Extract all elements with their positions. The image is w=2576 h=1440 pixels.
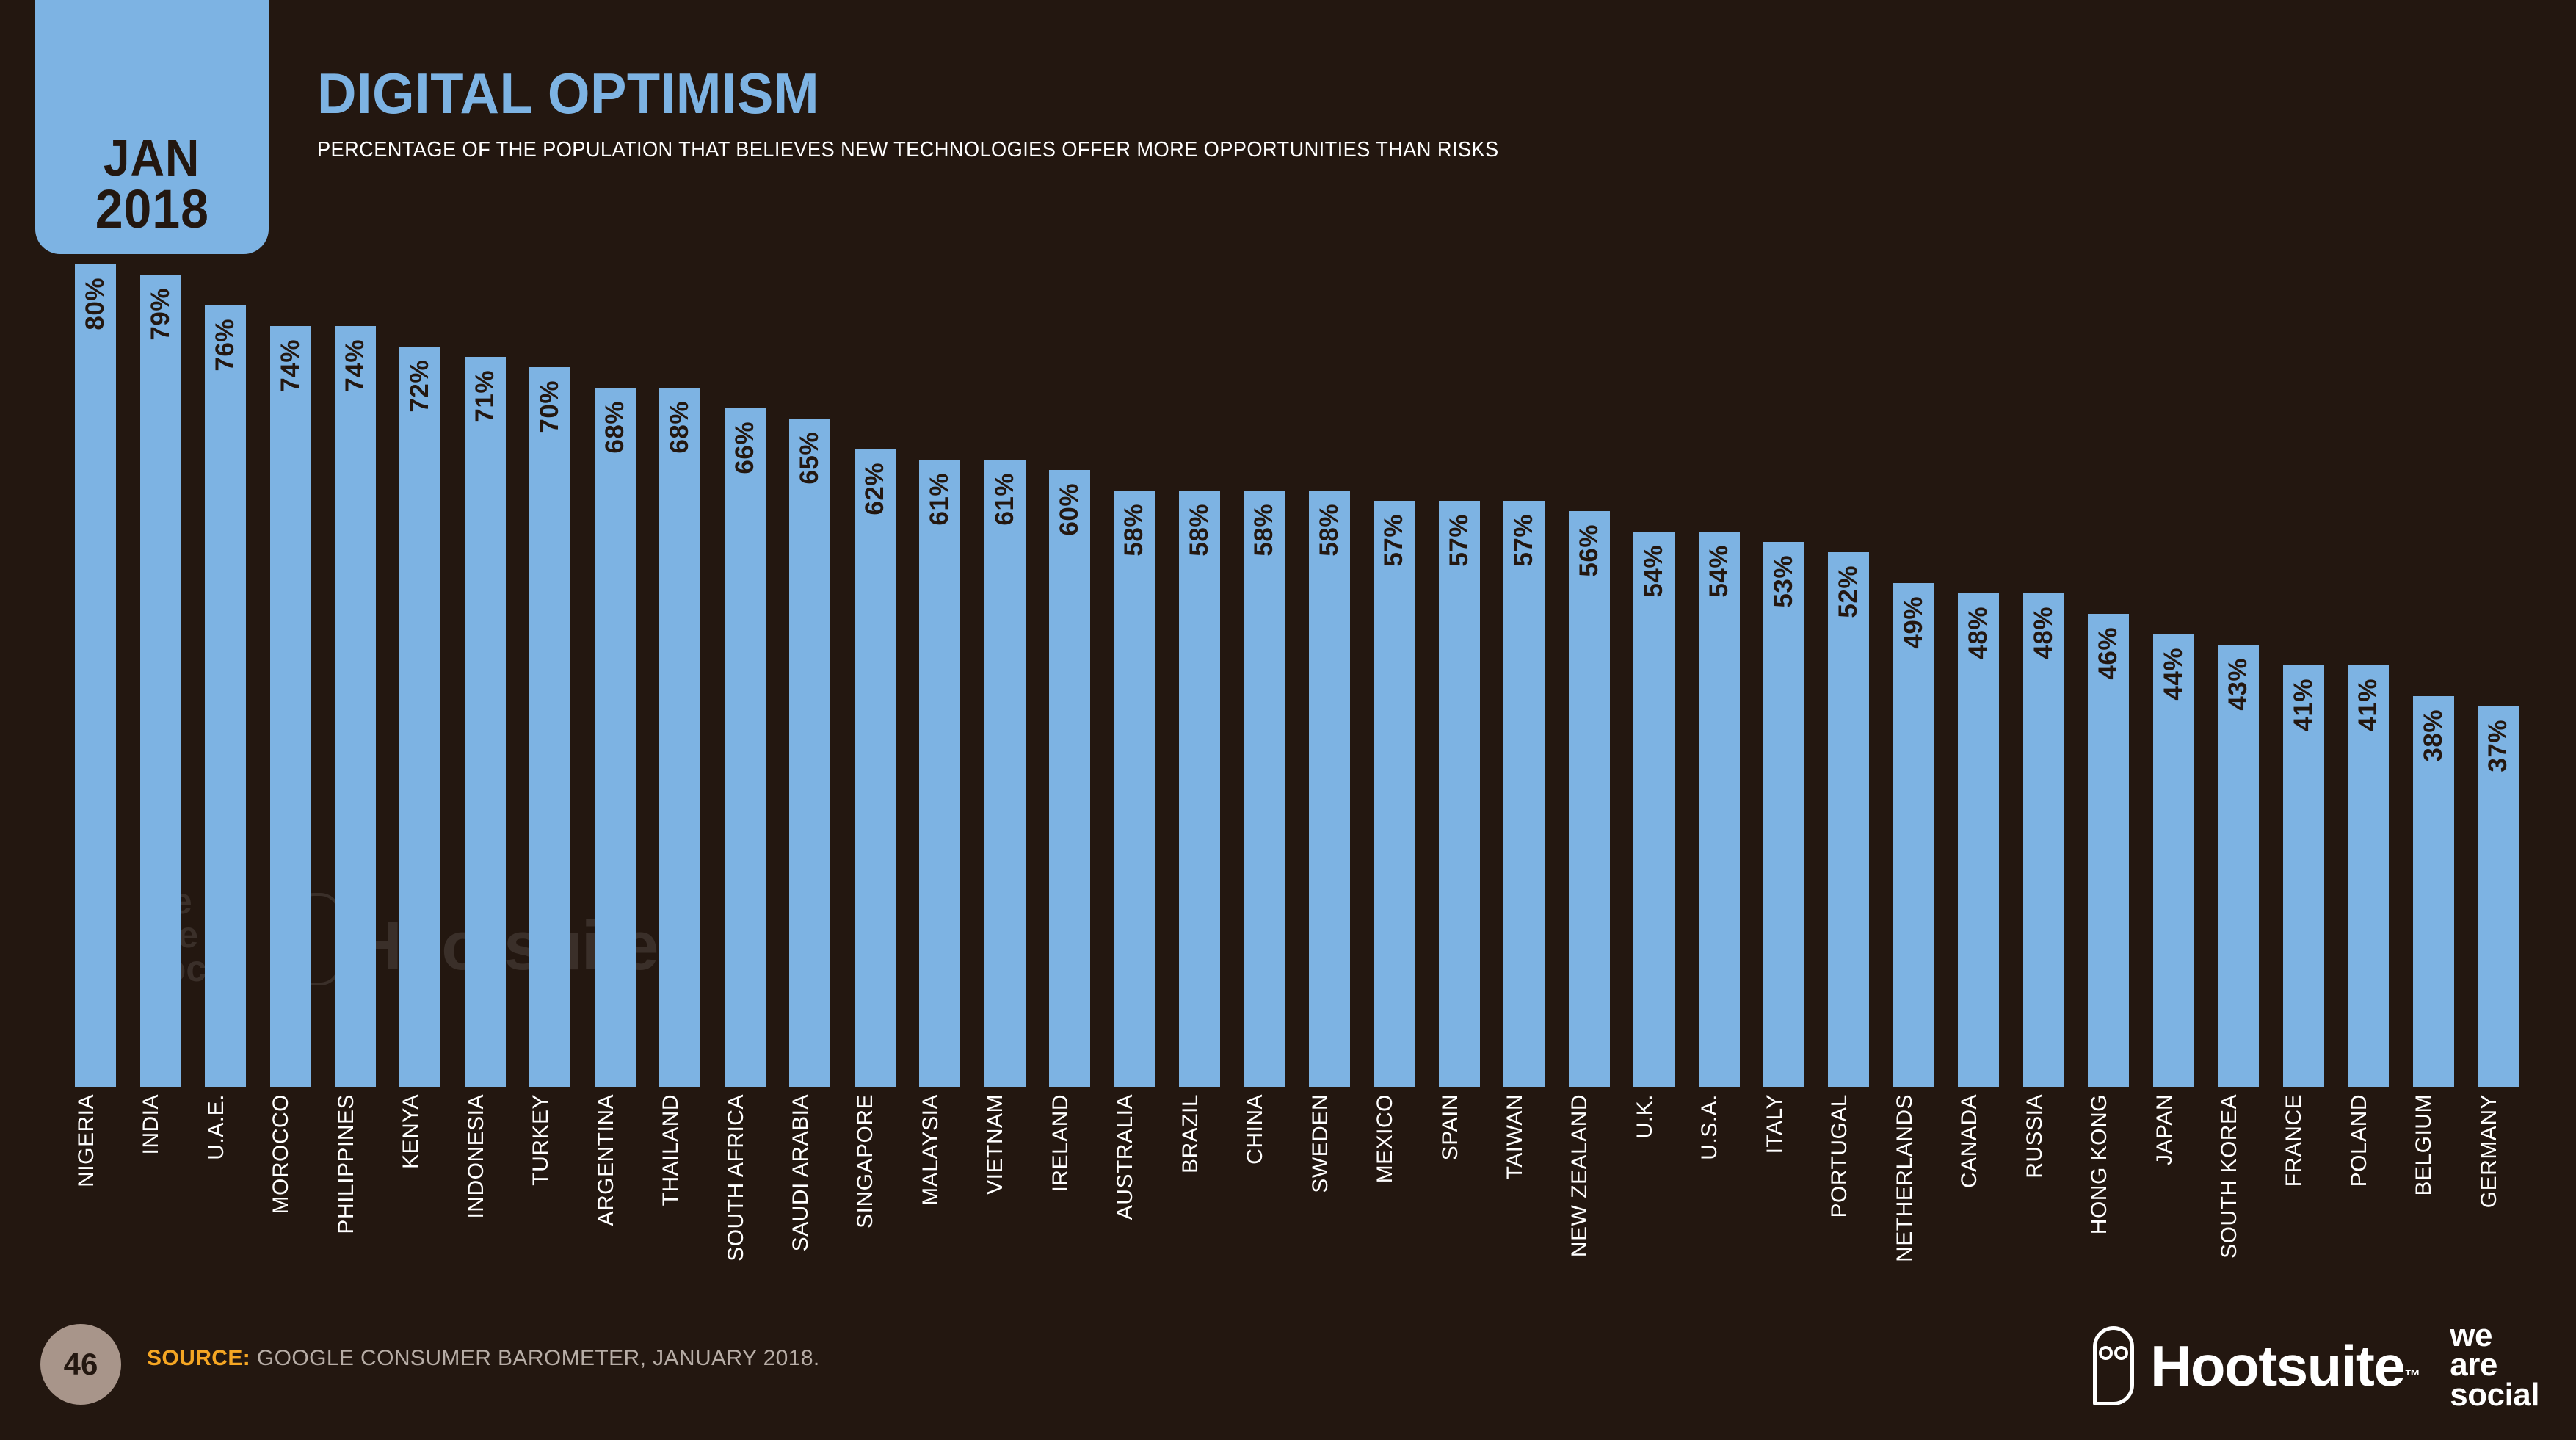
bars-container: 80%79%76%74%74%72%71%70%68%68%66%65%62%6… [66, 264, 2528, 1087]
bar-column[interactable]: 58% [1170, 264, 1229, 1087]
bar-value-label: 38% [2413, 709, 2454, 797]
bar[interactable]: 79% [140, 275, 181, 1087]
badge-year: 2018 [95, 183, 208, 236]
bar[interactable]: 68% [595, 388, 636, 1087]
footer: 46 SOURCE: GOOGLE CONSUMER BAROMETER, JA… [0, 1293, 2576, 1440]
category-label: NETHERLANDS [1884, 1094, 1926, 1262]
bar-column[interactable]: 57% [1430, 264, 1489, 1087]
trademark-symbol: ™ [2404, 1366, 2420, 1384]
bar-value-label: 68% [595, 401, 636, 489]
hootsuite-word: Hootsuite [2150, 1334, 2404, 1398]
bar-column[interactable]: 74% [326, 264, 385, 1087]
bar-value-text: 52% [1828, 565, 1869, 618]
bar-value-label: 48% [2023, 607, 2064, 695]
category-label: RUSSIA [2014, 1094, 2056, 1179]
bar[interactable]: 41% [2348, 665, 2389, 1087]
badge-month: JAN [104, 133, 200, 184]
bar[interactable]: 48% [2023, 593, 2064, 1087]
we-are-social-logo: we are social [2450, 1321, 2539, 1410]
bar-column[interactable]: 44% [2144, 264, 2203, 1087]
bar-column[interactable]: 57% [1495, 264, 1553, 1087]
bar-value-text: 58% [1309, 504, 1350, 557]
bar-value-text: 46% [2088, 627, 2129, 680]
owl-eye-left-icon [2099, 1346, 2113, 1360]
bar-column[interactable]: 48% [1949, 264, 2008, 1087]
bar-value-text: 61% [919, 473, 960, 526]
category-label: PORTUGAL [1819, 1094, 1860, 1218]
bar-value-label: 74% [270, 339, 311, 427]
bar[interactable]: 61% [984, 460, 1026, 1087]
bar-value-text: 41% [2283, 679, 2324, 731]
category-label: U.S.A. [1689, 1094, 1730, 1160]
bar-value-label: 57% [1374, 514, 1415, 602]
category-label: TAIWAN [1495, 1094, 1536, 1179]
category-label: ITALY [1755, 1094, 1796, 1154]
bar-column[interactable]: 70% [520, 264, 579, 1087]
category-label: JAPAN [2144, 1094, 2185, 1165]
bar-value-text: 58% [1244, 504, 1285, 557]
bar-value-label: 58% [1244, 504, 1285, 592]
bar-value-label: 48% [1958, 607, 1999, 695]
bar[interactable]: 61% [919, 460, 960, 1087]
bar-column[interactable]: 62% [845, 264, 904, 1087]
bar-value-text: 70% [529, 380, 570, 433]
bar[interactable]: 76% [205, 305, 246, 1087]
bar[interactable]: 57% [1374, 501, 1415, 1087]
bar-value-text: 79% [140, 288, 181, 341]
bar[interactable]: 52% [1828, 552, 1869, 1087]
bar-value-label: 56% [1569, 524, 1610, 612]
category-label: SAUDI ARABIA [780, 1094, 821, 1251]
bar-value-text: 53% [1763, 555, 1804, 608]
bar-column[interactable]: 43% [2209, 264, 2268, 1087]
bar-value-label: 41% [2348, 679, 2389, 767]
bar-value-text: 61% [984, 473, 1026, 526]
bar-value-label: 68% [659, 401, 700, 489]
bar[interactable]: 66% [725, 408, 766, 1087]
bar-column[interactable]: 48% [2014, 264, 2073, 1087]
source-text: GOOGLE CONSUMER BAROMETER, JANUARY 2018. [257, 1346, 820, 1370]
bar-column[interactable]: 68% [650, 264, 709, 1087]
bar[interactable]: 60% [1049, 470, 1090, 1087]
bar[interactable]: 38% [2413, 696, 2454, 1087]
page-subtitle: PERCENTAGE OF THE POPULATION THAT BELIEV… [317, 138, 1499, 162]
bar-value-text: 54% [1633, 545, 1675, 598]
bar[interactable]: 57% [1503, 501, 1545, 1087]
bar-column[interactable]: 54% [1689, 264, 1748, 1087]
bar[interactable]: 53% [1763, 542, 1804, 1087]
owl-icon [2093, 1326, 2134, 1405]
bar-value-label: 46% [2088, 627, 2129, 715]
bar-value-label: 71% [465, 370, 506, 458]
bar[interactable]: 37% [2478, 706, 2519, 1087]
bar-column[interactable]: 65% [780, 264, 839, 1087]
page-title: DIGITAL OPTIMISM [317, 65, 1512, 122]
bar[interactable]: 41% [2283, 665, 2324, 1087]
bar-value-label: 41% [2283, 679, 2324, 767]
category-label: GERMANY [2469, 1094, 2510, 1208]
bar-column[interactable]: 61% [975, 264, 1034, 1087]
bar-column[interactable]: 52% [1819, 264, 1878, 1087]
bar-value-label: 76% [205, 319, 246, 407]
category-label: VIETNAM [975, 1094, 1016, 1195]
bar-value-label: 80% [75, 278, 116, 366]
category-label: HONG KONG [2079, 1094, 2120, 1234]
category-label: CHINA [1235, 1094, 1276, 1165]
category-label: FRANCE [2274, 1094, 2315, 1187]
bar-value-label: 58% [1179, 504, 1220, 592]
bar-value-label: 60% [1049, 483, 1090, 571]
bar-value-label: 79% [140, 288, 181, 376]
bar-value-label: 43% [2218, 658, 2259, 746]
category-label: INDIA [131, 1094, 172, 1155]
brand-block: Hootsuite™ we are social [2093, 1321, 2539, 1410]
category-label: POLAND [2339, 1094, 2380, 1187]
bar-value-label: 57% [1503, 514, 1545, 602]
bar[interactable]: 72% [399, 347, 440, 1087]
bar-value-text: 56% [1569, 524, 1610, 577]
bar-value-label: 72% [399, 360, 440, 448]
bar-value-text: 58% [1114, 504, 1155, 557]
bar-column[interactable]: 54% [1625, 264, 1683, 1087]
bar-value-label: 52% [1828, 565, 1869, 654]
category-label: IRELAND [1040, 1094, 1081, 1193]
category-label: SOUTH AFRICA [716, 1094, 757, 1262]
date-badge: JAN 2018 [35, 0, 269, 254]
bar[interactable]: 57% [1439, 501, 1480, 1087]
bar-value-label: 49% [1893, 596, 1934, 684]
bar-column[interactable]: 49% [1884, 264, 1943, 1087]
bar[interactable]: 70% [529, 367, 570, 1087]
category-label: U.A.E. [196, 1094, 237, 1160]
bar-column[interactable]: 80% [66, 264, 125, 1087]
bar-value-text: 68% [659, 401, 700, 454]
bar[interactable]: 65% [789, 419, 830, 1087]
bar-value-text: 72% [399, 360, 440, 413]
hootsuite-logo: Hootsuite™ [2093, 1326, 2420, 1405]
bar-value-label: 74% [335, 339, 376, 427]
bar-column[interactable]: 38% [2403, 264, 2462, 1087]
bar-column[interactable]: 37% [2469, 264, 2528, 1087]
bar-column[interactable]: 41% [2339, 264, 2398, 1087]
bar[interactable]: 49% [1893, 583, 1934, 1087]
bar[interactable]: 80% [75, 264, 116, 1087]
page-number-badge: 46 [40, 1324, 121, 1405]
bar[interactable]: 71% [465, 357, 506, 1087]
bar-column[interactable]: 56% [1559, 264, 1618, 1087]
category-label: NEW ZEALAND [1559, 1094, 1600, 1257]
category-label: INDONESIA [456, 1094, 497, 1219]
bar[interactable]: 58% [1114, 491, 1155, 1087]
bar[interactable]: 43% [2218, 645, 2259, 1087]
bar-value-text: 76% [205, 319, 246, 372]
bar[interactable]: 44% [2153, 634, 2194, 1087]
bar-column[interactable]: 58% [1300, 264, 1359, 1087]
source-label: SOURCE: [147, 1346, 250, 1370]
category-label: MALAYSIA [910, 1094, 951, 1206]
bar-value-text: 41% [2348, 679, 2389, 731]
bar-column[interactable]: 46% [2079, 264, 2138, 1087]
bar-value-text: 74% [270, 339, 311, 392]
bar[interactable]: 58% [1244, 491, 1285, 1087]
category-label: MEXICO [1365, 1094, 1406, 1183]
bar-column[interactable]: 58% [1235, 264, 1294, 1087]
category-label: NIGERIA [66, 1094, 107, 1187]
bar-column[interactable]: 66% [716, 264, 774, 1087]
bar-value-text: 57% [1374, 514, 1415, 567]
bar-column[interactable]: 74% [261, 264, 319, 1087]
category-label: MOROCCO [261, 1094, 302, 1215]
bar-value-label: 66% [725, 421, 766, 510]
bar-value-text: 80% [75, 278, 116, 330]
bar-value-text: 37% [2478, 720, 2519, 773]
bar-value-label: 54% [1699, 545, 1740, 633]
category-label: CANADA [1949, 1094, 1990, 1188]
category-label: AUSTRALIA [1105, 1094, 1146, 1220]
bar[interactable]: 56% [1569, 511, 1610, 1087]
bar-value-text: 71% [465, 370, 506, 423]
bar-value-text: 58% [1179, 504, 1220, 557]
bar-value-label: 70% [529, 380, 570, 468]
bar-value-label: 62% [855, 463, 896, 551]
bar-value-label: 61% [919, 473, 960, 561]
category-label: TURKEY [520, 1094, 562, 1186]
wearesocial-line-are: are [2450, 1350, 2539, 1380]
bar-value-label: 57% [1439, 514, 1480, 602]
bar-column[interactable]: 76% [196, 264, 255, 1087]
bar-column[interactable]: 68% [586, 264, 645, 1087]
bar-column[interactable]: 71% [456, 264, 515, 1087]
category-label: U.K. [1625, 1094, 1666, 1138]
bar[interactable]: 58% [1179, 491, 1220, 1087]
bar-chart: 80%79%76%74%74%72%71%70%68%68%66%65%62%6… [0, 264, 2576, 1087]
bar-value-text: 49% [1893, 596, 1934, 649]
bar-value-text: 48% [1958, 607, 1999, 659]
bar-value-text: 68% [595, 401, 636, 454]
bar-value-text: 43% [2218, 658, 2259, 711]
bar-value-text: 44% [2153, 648, 2194, 701]
bar[interactable]: 54% [1699, 532, 1740, 1087]
category-label: SOUTH KOREA [2209, 1094, 2250, 1259]
hootsuite-wordmark: Hootsuite™ [2150, 1337, 2420, 1394]
bar-column[interactable]: 53% [1755, 264, 1813, 1087]
bar-column[interactable]: 41% [2274, 264, 2332, 1087]
bar-value-label: 44% [2153, 648, 2194, 736]
bar-value-text: 38% [2413, 709, 2454, 762]
bar-column[interactable]: 60% [1040, 264, 1099, 1087]
bar-column[interactable]: 72% [391, 264, 449, 1087]
bar-value-text: 48% [2023, 607, 2064, 659]
bar[interactable]: 58% [1309, 491, 1350, 1087]
bar-value-label: 53% [1763, 555, 1804, 643]
category-label: KENYA [391, 1094, 432, 1169]
bar-value-label: 58% [1114, 504, 1155, 592]
category-label: SINGAPORE [845, 1094, 886, 1229]
bar-column[interactable]: 57% [1365, 264, 1423, 1087]
bar-value-text: 57% [1439, 514, 1480, 567]
bar[interactable]: 46% [2088, 614, 2129, 1087]
bar[interactable]: 48% [1958, 593, 1999, 1087]
bar-column[interactable]: 58% [1105, 264, 1164, 1087]
bar-value-label: 37% [2478, 720, 2519, 808]
bar-column[interactable]: 61% [910, 264, 969, 1087]
category-label: THAILAND [650, 1094, 692, 1206]
bar-value-label: 54% [1633, 545, 1675, 633]
bar-value-label: 65% [789, 432, 830, 520]
bar-value-text: 57% [1503, 514, 1545, 567]
category-label: SPAIN [1430, 1094, 1471, 1160]
bar-value-label: 58% [1309, 504, 1350, 592]
bar-value-text: 65% [789, 432, 830, 485]
owl-eye-right-icon [2114, 1346, 2128, 1360]
bar-value-text: 66% [725, 421, 766, 474]
bar-value-text: 54% [1699, 545, 1740, 598]
bar[interactable]: 62% [855, 449, 896, 1087]
bar[interactable]: 54% [1633, 532, 1675, 1087]
bar-value-text: 62% [855, 463, 896, 515]
bar[interactable]: 74% [335, 326, 376, 1087]
category-label: BRAZIL [1170, 1094, 1211, 1173]
wearesocial-line-we: we [2450, 1321, 2539, 1350]
wearesocial-line-social: social [2450, 1381, 2539, 1410]
bar-value-label: 61% [984, 473, 1026, 561]
category-label: BELGIUM [2403, 1094, 2445, 1196]
category-label: SWEDEN [1300, 1094, 1341, 1193]
bar[interactable]: 68% [659, 388, 700, 1087]
bar-value-text: 60% [1049, 483, 1090, 536]
category-label: PHILIPPINES [326, 1094, 367, 1234]
bar-column[interactable]: 79% [131, 264, 189, 1087]
bar[interactable]: 74% [270, 326, 311, 1087]
category-label: ARGENTINA [586, 1094, 627, 1226]
title-block: DIGITAL OPTIMISM PERCENTAGE OF THE POPUL… [317, 65, 1574, 162]
bar-value-text: 74% [335, 339, 376, 392]
source-line: SOURCE: GOOGLE CONSUMER BAROMETER, JANUA… [147, 1346, 820, 1371]
